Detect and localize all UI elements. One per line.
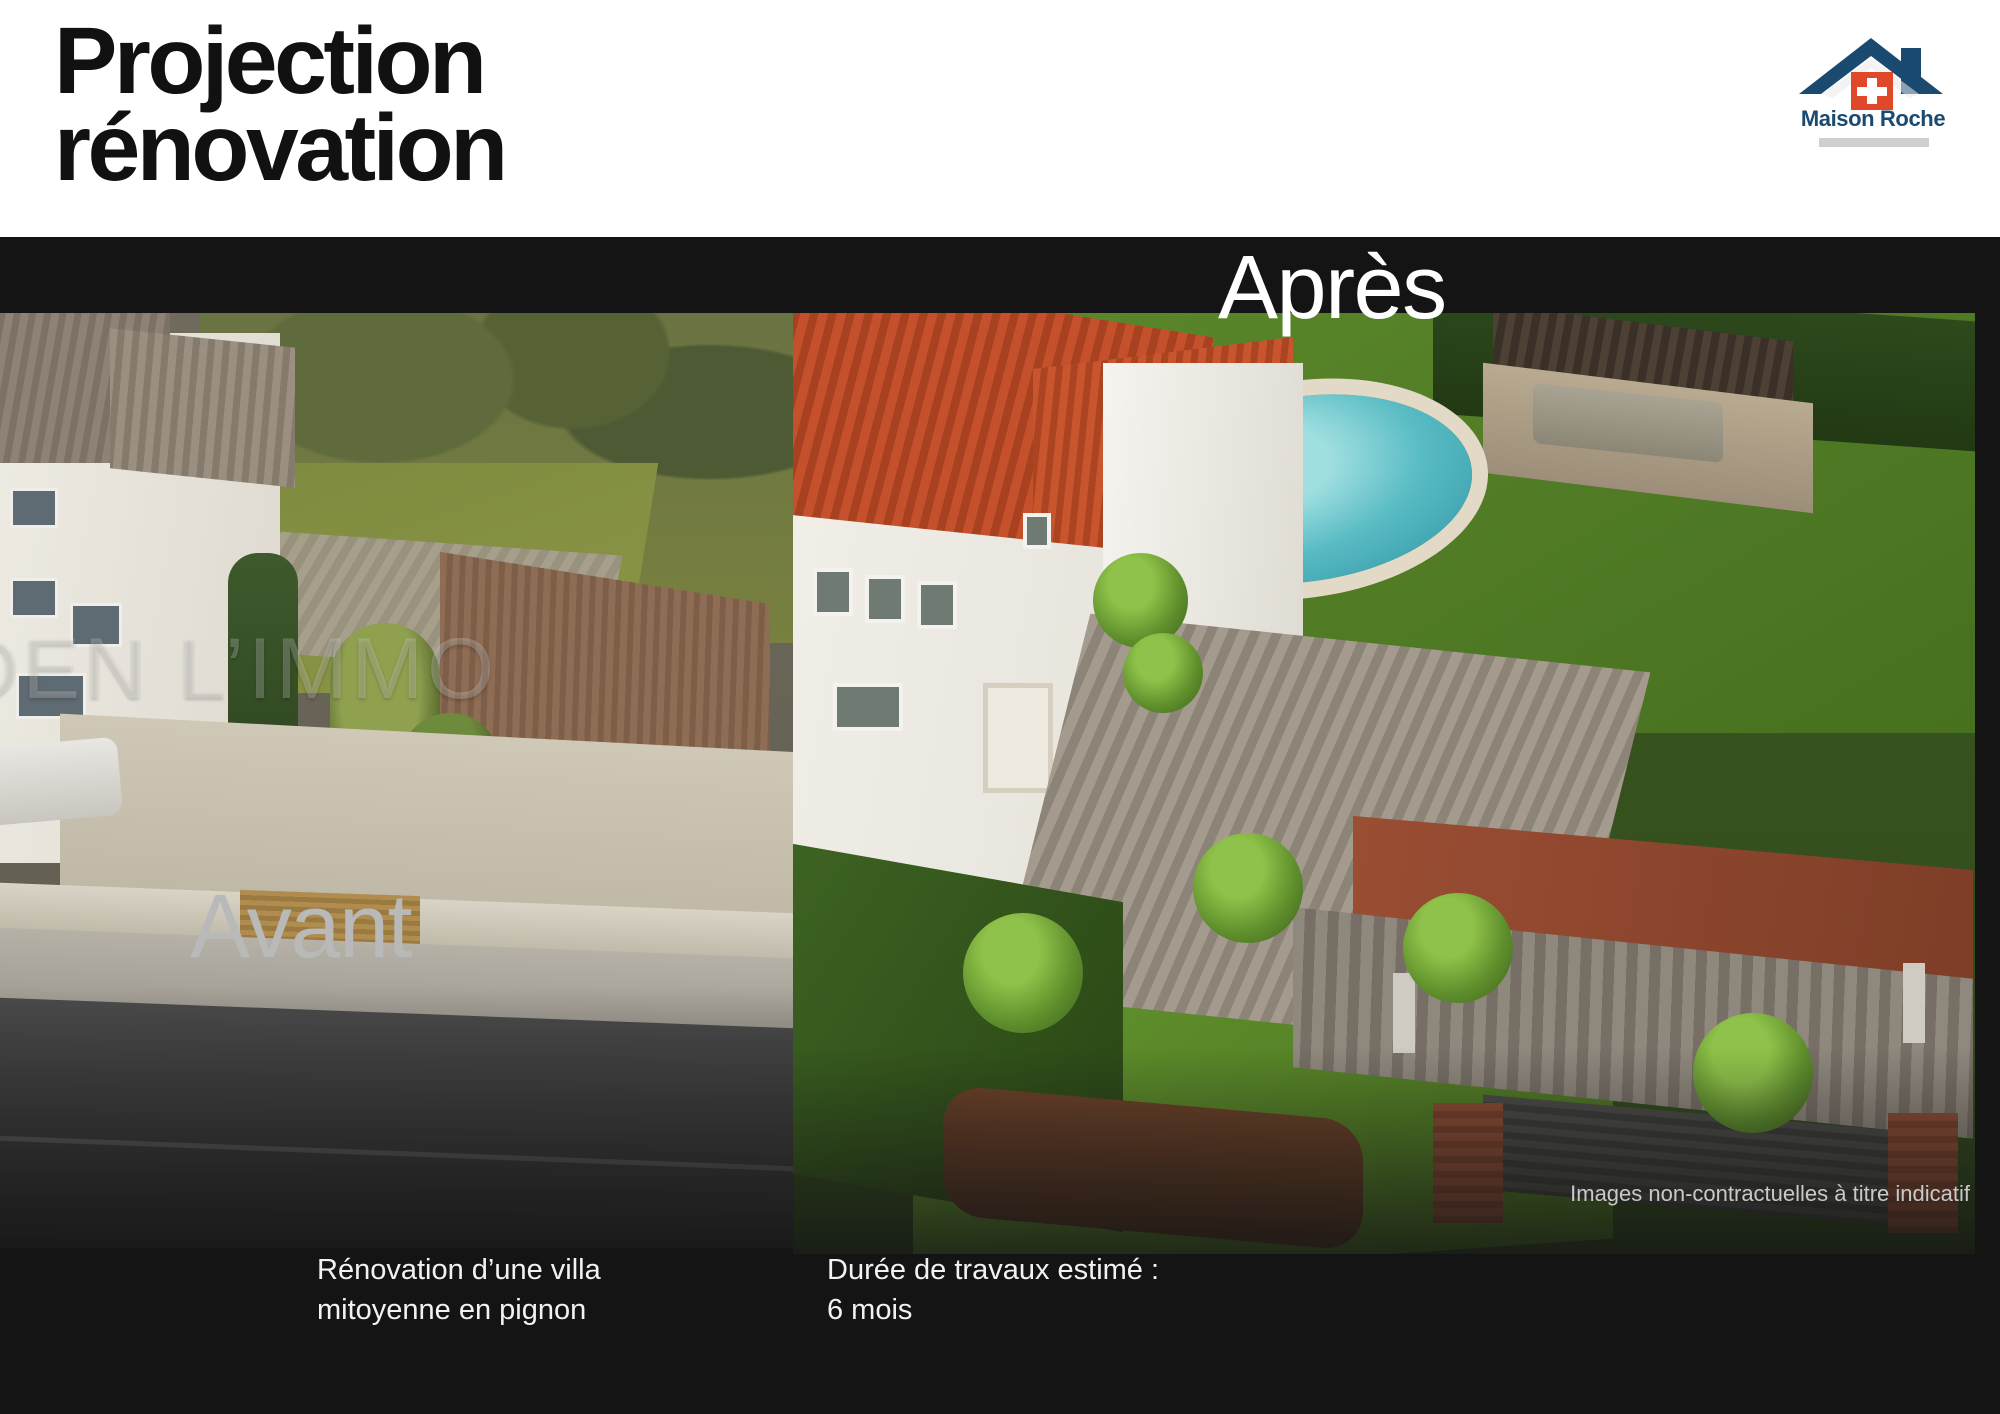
brand-name: Maison Roche [1793,106,1953,132]
after-label: Après [1218,243,1446,333]
before-label: Avant [190,882,411,972]
photo-watermark: AYDEN L’IMMO [0,620,1300,719]
page-header: Projection rénovation Maison Roche [0,0,2000,237]
brand-logo[interactable]: Maison Roche [1793,32,1953,150]
photo-labels: AYDEN L’IMMO Après Avant Images non-cont… [0,237,2000,1414]
house-roof-swiss-cross-icon [1793,32,1953,110]
caption-duration: Durée de travaux estimé : 6 mois [827,1250,1159,1330]
page-title: Projection rénovation [54,18,505,193]
comparison-stage: AYDEN L’IMMO Après Avant Images non-cont… [0,237,2000,1414]
disclaimer-text: Images non-contractuelles à titre indica… [1570,1181,1970,1207]
logo-underline-bar [1819,138,1929,147]
caption-project-type: Rénovation d’une villa mitoyenne en pign… [317,1250,601,1330]
